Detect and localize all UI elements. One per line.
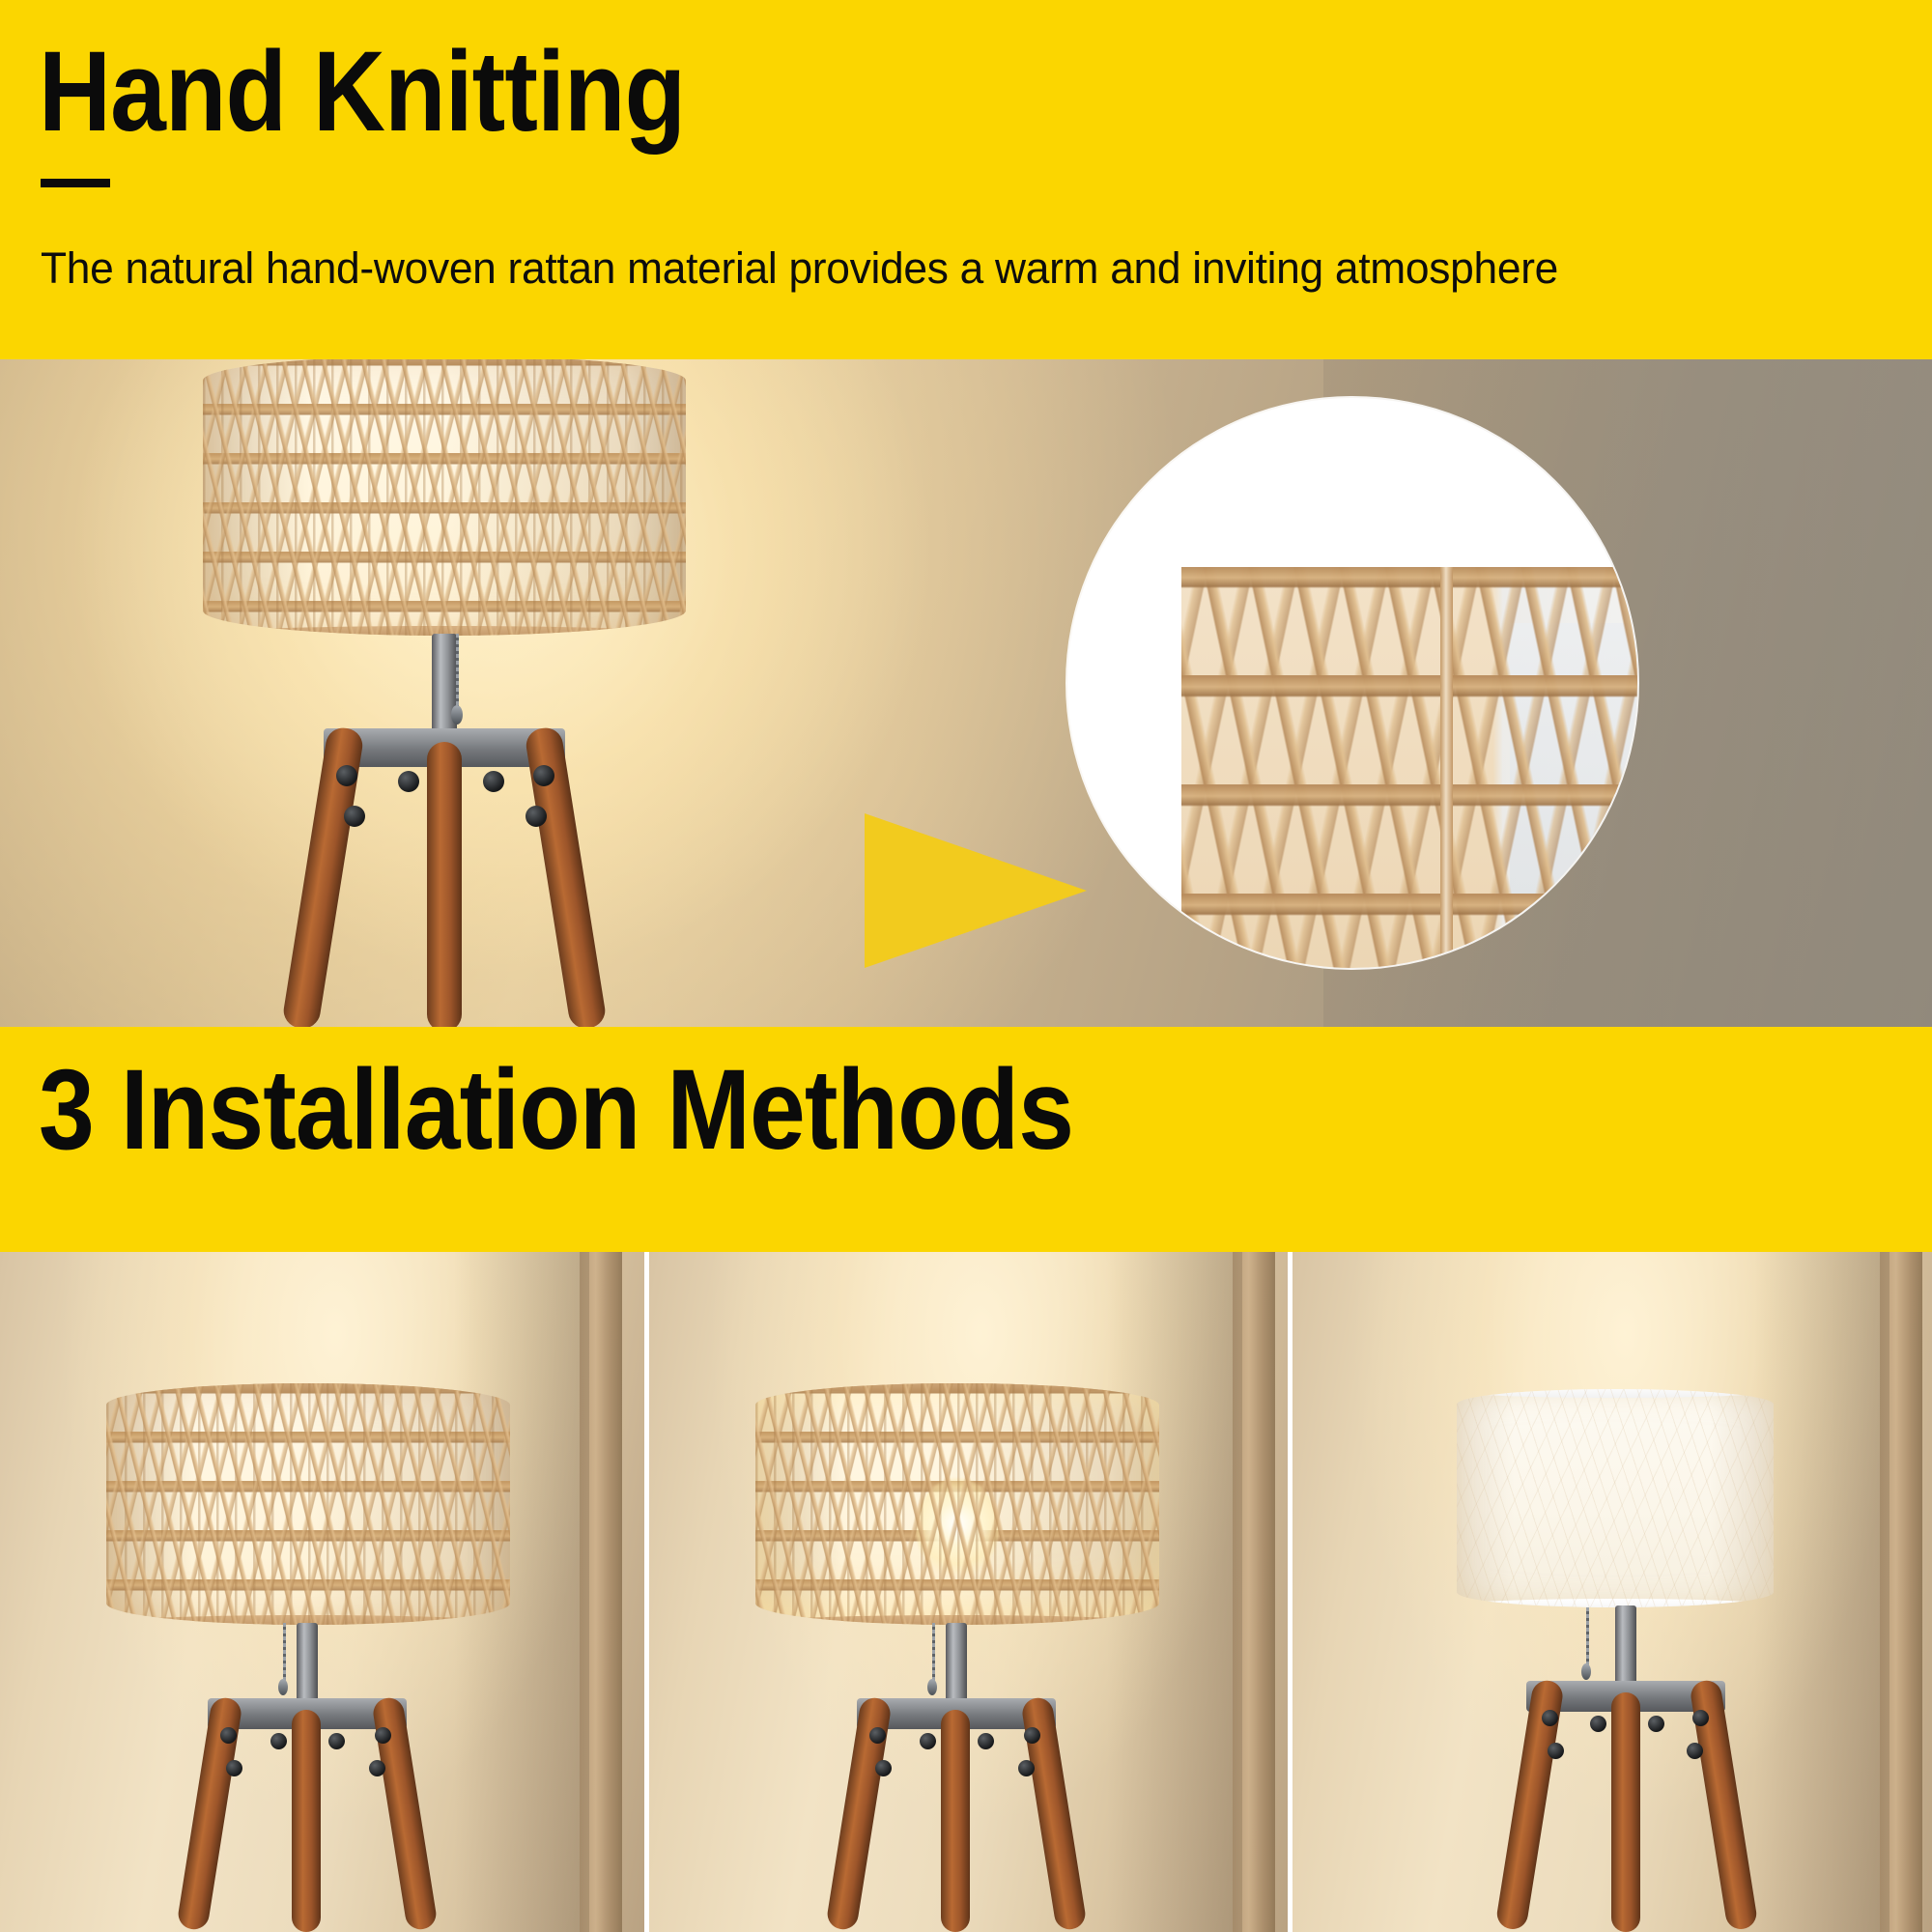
panel-3-leg-center <box>1611 1692 1640 1932</box>
hero-leg-bolt-6 <box>526 806 547 827</box>
title-underline-rule <box>41 179 110 187</box>
hero-product-photo <box>0 359 1932 1027</box>
panel-2-pull-chain <box>932 1623 935 1685</box>
hero-leg-bolt-2 <box>344 806 365 827</box>
infographic-page: Hand Knitting The natural hand-woven rat… <box>0 0 1932 1932</box>
panel-1-pull-chain-bead <box>278 1679 288 1695</box>
hero-pull-chain <box>456 634 459 711</box>
hero-rattan-shade <box>203 359 686 636</box>
hero-lamp <box>174 359 715 1027</box>
hero-pull-chain-bead <box>451 705 463 724</box>
panel-3-shade-top-rim <box>1457 1389 1774 1398</box>
weave-closeup-circle <box>1067 398 1637 968</box>
panel-2-exposed-bulb <box>916 1478 999 1578</box>
panel-2-rattan-shade <box>755 1383 1159 1625</box>
panel-2-bolt-6 <box>1018 1760 1035 1776</box>
middle-banner: 3 Installation Methods <box>0 1027 1932 1252</box>
panel-3-bolt-1 <box>1542 1710 1558 1726</box>
panel-1-bolt-6 <box>369 1760 385 1776</box>
panel-1-rattan-shade <box>106 1383 510 1625</box>
panel-3-bolt-4 <box>1648 1716 1664 1732</box>
panel-1-lamp <box>85 1383 529 1932</box>
panel-3-bolt-2 <box>1548 1743 1564 1759</box>
hero-leg-bolt-5 <box>533 765 554 786</box>
panel-3-pull-chain <box>1586 1607 1589 1669</box>
panel-1-pull-chain <box>283 1623 286 1685</box>
hero-leg-bolt-1 <box>336 765 357 786</box>
hero-leg-bolt-4 <box>483 771 504 792</box>
panel-1-stem <box>297 1623 318 1706</box>
panel-1-bolt-1 <box>220 1727 237 1744</box>
panel-3-stem <box>1615 1605 1636 1689</box>
panel-1-bolt-2 <box>226 1760 242 1776</box>
rattan-weave-texture <box>1181 567 1637 968</box>
panel-2-bolt-4 <box>978 1733 994 1749</box>
installation-method-panel-2 <box>644 1252 1288 1932</box>
page-subtitle: The natural hand-woven rattan material p… <box>41 243 1558 294</box>
panel-2-stem <box>946 1623 967 1706</box>
panel-2-bolt-3 <box>920 1733 936 1749</box>
callout-pointer-triangle <box>865 813 1087 968</box>
panel-2-bolt-1 <box>869 1727 886 1744</box>
installation-method-panel-1 <box>0 1252 644 1932</box>
hero-leg-bolt-3 <box>398 771 419 792</box>
shade-top-rim <box>203 359 686 365</box>
panel-2-bolt-5 <box>1024 1727 1040 1744</box>
panel-3-bolt-3 <box>1590 1716 1606 1732</box>
section-title: 3 Installation Methods <box>39 1053 1073 1167</box>
panel-2-lamp <box>734 1383 1179 1932</box>
installation-methods-gallery <box>0 1252 1932 1932</box>
page-title: Hand Knitting <box>39 35 685 149</box>
panel-3-bolt-6 <box>1687 1743 1703 1759</box>
panel-1-leg-center <box>292 1710 321 1932</box>
installation-method-panel-3 <box>1288 1252 1932 1932</box>
weave-closeup-image <box>1181 567 1637 968</box>
panel-2-bolt-2 <box>875 1760 892 1776</box>
panel-2-shade-top-rim <box>755 1383 1159 1393</box>
hero-lamp-leg-center <box>427 742 462 1027</box>
panel-1-bolt-5 <box>375 1727 391 1744</box>
top-banner: Hand Knitting The natural hand-woven rat… <box>0 0 1932 359</box>
panel-1-bolt-4 <box>328 1733 345 1749</box>
shade-vertical-seam <box>1440 567 1453 968</box>
panel-2-leg-center <box>941 1710 970 1932</box>
panel-3-white-fabric-shade <box>1457 1389 1774 1607</box>
panel-1-bolt-3 <box>270 1733 287 1749</box>
panel-2-pull-chain-bead <box>927 1679 937 1695</box>
panel-3-pull-chain-bead <box>1581 1663 1591 1680</box>
panel-1-shade-top-rim <box>106 1383 510 1393</box>
panel-3-bolt-5 <box>1692 1710 1709 1726</box>
panel-3-lamp <box>1397 1389 1822 1932</box>
